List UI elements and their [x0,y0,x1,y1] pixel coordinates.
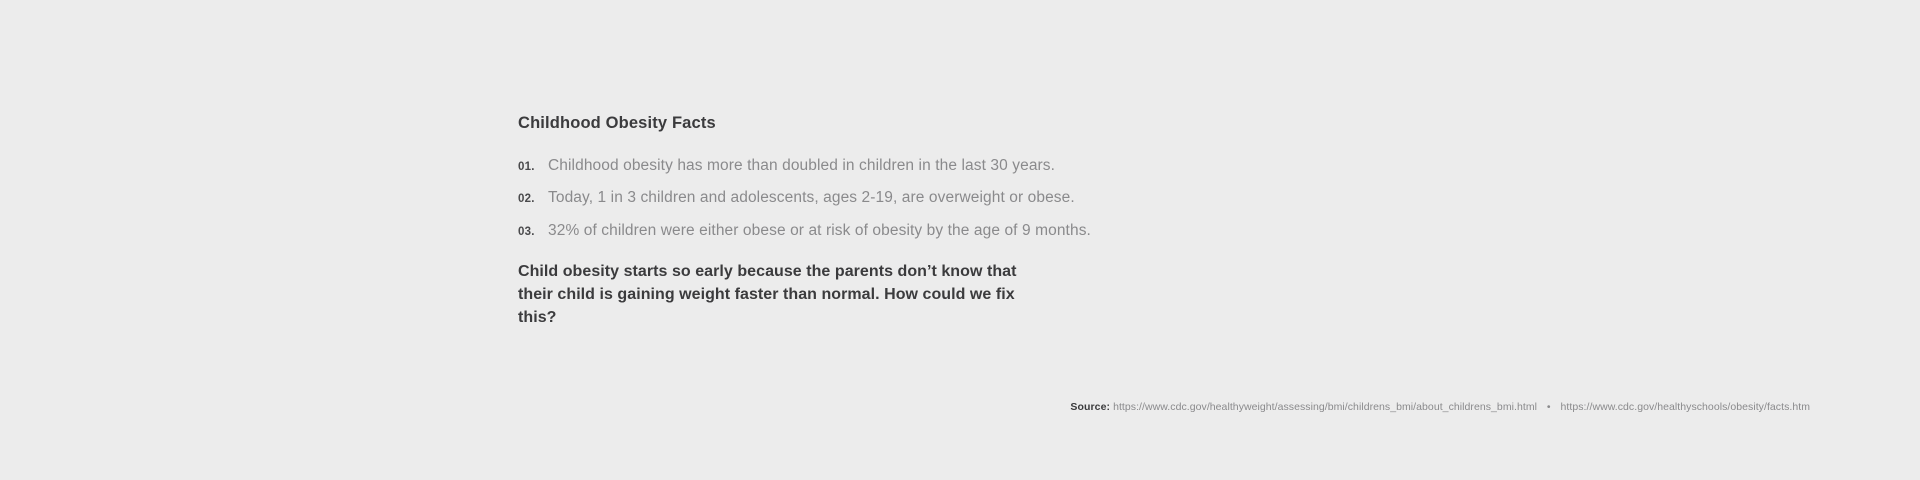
list-item-number: 02. [518,193,548,205]
list-item: 02. Today, 1 in 3 children and adolescen… [518,188,1218,207]
list-item-text: Today, 1 in 3 children and adolescents, … [548,188,1075,207]
question-statement: Child obesity starts so early because th… [518,260,1048,330]
source-separator-bullet-icon: • [1540,401,1558,413]
page-title: Childhood Obesity Facts [518,114,1218,134]
source-url-primary[interactable]: https://www.cdc.gov/healthyweight/assess… [1113,401,1537,413]
source-label: Source: [1070,401,1110,413]
content-block: Childhood Obesity Facts 01. Childhood ob… [518,114,1218,329]
list-item-number: 01. [518,161,548,173]
list-item: 01. Childhood obesity has more than doub… [518,156,1218,175]
list-item-number: 03. [518,226,548,238]
source-citation: Source: https://www.cdc.gov/healthyweigh… [0,400,1920,415]
source-url-secondary[interactable]: https://www.cdc.gov/healthyschools/obesi… [1561,401,1810,413]
list-item-text: 32% of children were either obese or at … [548,221,1091,240]
list-item-text: Childhood obesity has more than doubled … [548,156,1055,175]
facts-list: 01. Childhood obesity has more than doub… [518,156,1218,240]
list-item: 03. 32% of children were either obese or… [518,221,1218,240]
slide-canvas: Childhood Obesity Facts 01. Childhood ob… [0,0,1920,480]
